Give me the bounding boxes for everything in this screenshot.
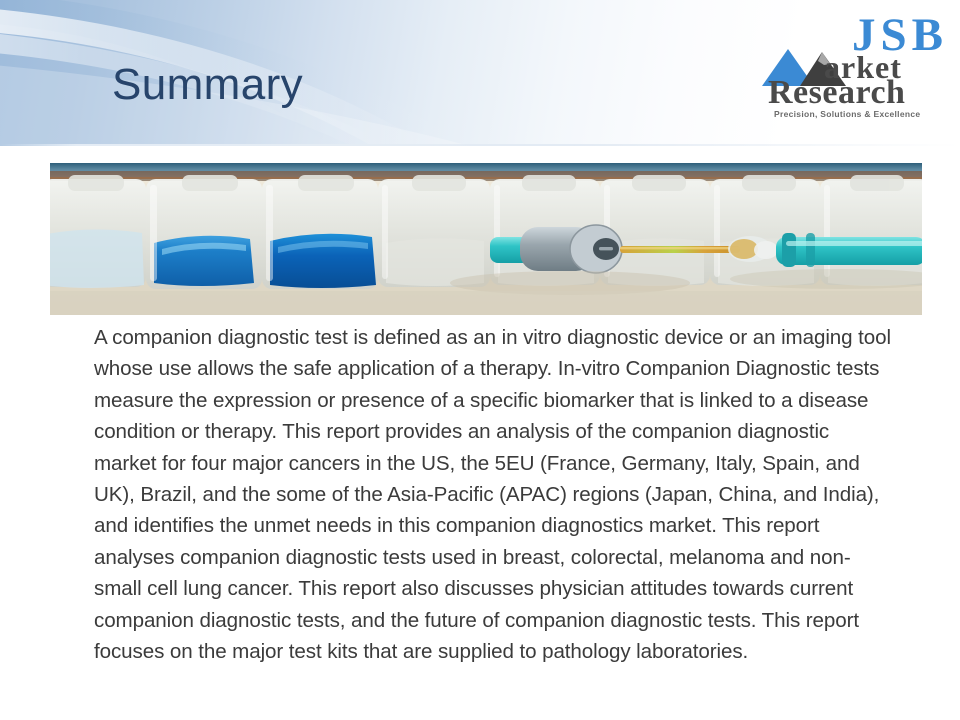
presentation-slide: Summary JSB arket Research Precision, So… — [0, 0, 960, 720]
photo-illustration — [50, 163, 922, 315]
logo-tagline: Precision, Solutions & Excellence — [774, 109, 920, 119]
slide-header: Summary JSB arket Research Precision, So… — [0, 0, 960, 146]
jsb-market-research-logo: JSB arket Research Precision, Solutions … — [758, 6, 954, 122]
logo-brand-research: Research — [768, 76, 905, 110]
summary-paragraph: A companion diagnostic test is defined a… — [94, 322, 894, 667]
header-divider-line — [0, 144, 960, 146]
page-title: Summary — [112, 58, 303, 112]
laboratory-vials-photo — [50, 163, 922, 315]
